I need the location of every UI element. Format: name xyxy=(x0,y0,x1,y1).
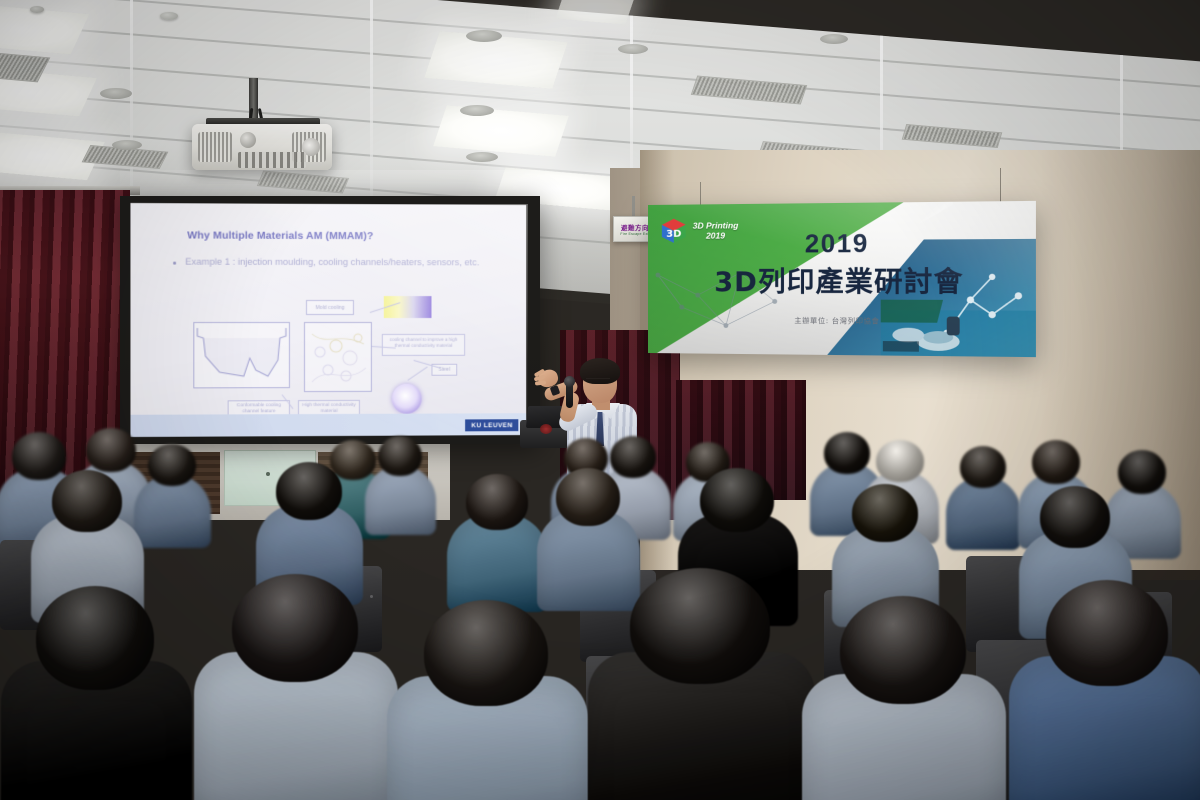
audience-member-head xyxy=(378,436,422,476)
audience-member-head xyxy=(52,470,122,532)
audience-member-head xyxy=(466,474,528,530)
audience-member-head xyxy=(424,600,548,706)
stage-light-glow xyxy=(540,424,552,434)
audience-member-head xyxy=(960,446,1006,488)
audience-member-head xyxy=(86,428,136,472)
slide-annotation-note: cooling channel to improve a high therma… xyxy=(382,334,465,356)
audience-member-head xyxy=(1046,580,1168,686)
audience-member-head xyxy=(852,484,918,542)
banner-hanging-string xyxy=(1000,168,1001,202)
ceiling-speaker-icon xyxy=(466,30,502,42)
slide-bullet-icon xyxy=(173,262,176,265)
slide-mold-curve-icon xyxy=(195,326,288,388)
audience-member-head xyxy=(824,432,870,474)
wall-fixture-dot xyxy=(266,472,270,476)
microphone-head-icon xyxy=(564,376,575,387)
audience-member-head xyxy=(1032,440,1080,484)
projector-control-panel xyxy=(238,152,306,168)
banner-year: 2019 xyxy=(648,228,1036,260)
slide-title: Why Multiple Materials AM (MMAM)? xyxy=(187,229,373,242)
presenter-glasses-icon xyxy=(586,378,610,383)
audience-member-head xyxy=(840,596,966,704)
ceiling-speaker-icon xyxy=(112,140,142,150)
exit-sign-english-text: Fire Escape Exit xyxy=(620,232,649,236)
ceiling-speaker-icon xyxy=(466,152,498,162)
audience-member-head xyxy=(148,444,196,486)
projector-lens-icon xyxy=(240,132,256,148)
exit-sign-chinese-text: 避難方向 xyxy=(621,222,649,232)
ceiling-speaker-icon xyxy=(618,44,648,54)
audience-member-head xyxy=(1118,450,1166,494)
banner-title: 3D列印產業研討會 xyxy=(648,259,1036,300)
audience-member-head xyxy=(330,440,376,480)
slide-colour-scale-legend xyxy=(384,296,432,318)
presentation-slide: Why Multiple Materials AM (MMAM)? Exampl… xyxy=(130,203,526,437)
slide-bullet-text: Example 1 : injection moulding, cooling … xyxy=(185,256,485,269)
ceiling-projector xyxy=(192,124,332,170)
slide-simulation-graphic xyxy=(306,324,370,390)
projector-vent-grille xyxy=(198,132,232,162)
audience-member-head xyxy=(556,468,620,526)
banner-logo-line1: 3D Printing xyxy=(693,220,739,230)
audience-member-head xyxy=(610,436,656,478)
audience-member-head xyxy=(12,432,66,480)
seminar-photograph: Why Multiple Materials AM (MMAM)? Exampl… xyxy=(0,0,1200,800)
audience-member-head xyxy=(1040,486,1110,548)
smoke-detector-icon xyxy=(160,12,178,20)
ceiling-speaker-icon xyxy=(460,105,494,116)
audience-member-head xyxy=(276,462,342,520)
slide-microstructure-circle xyxy=(392,384,422,414)
slide-footer-band: KU LEUVEN xyxy=(130,413,526,437)
smoke-detector-icon xyxy=(30,6,44,13)
slide-label-mold-cooling: Mold cooling xyxy=(306,300,354,315)
exit-sign-pole xyxy=(632,196,635,218)
audience-member-head xyxy=(36,586,154,690)
audience-member-head xyxy=(232,574,358,682)
audience-member-head xyxy=(700,468,774,532)
audience-member-head xyxy=(876,440,924,482)
ceiling-speaker-icon xyxy=(100,88,132,99)
audience-member-head xyxy=(630,568,770,684)
slide-leader-line xyxy=(407,366,427,380)
ku-leuven-logo: KU LEUVEN xyxy=(465,419,518,431)
event-banner: 3D 3D Printing 2019 xyxy=(648,201,1036,357)
ceiling-speaker-icon xyxy=(820,34,848,44)
